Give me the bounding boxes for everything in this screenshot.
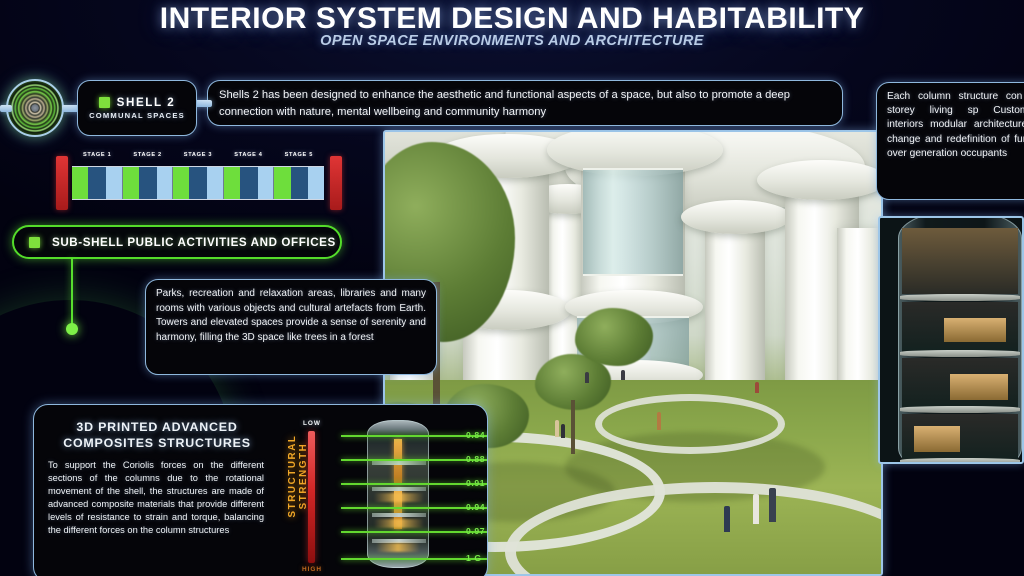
structural-strength-gauge: STRUCTURAL STRENGTH LOW HIGH <box>274 413 326 576</box>
column-cutaway-diagram <box>367 420 429 568</box>
green-square-swatch-icon <box>29 237 40 248</box>
gravity-value-label: 0.94 G <box>466 502 488 512</box>
segment-dark-blue <box>88 167 106 199</box>
inset-cutaway-image <box>878 216 1024 464</box>
stage-label: STAGE 3 <box>173 152 223 164</box>
habitat-ring-logo-icon <box>6 79 64 137</box>
stage-segment-group[interactable] <box>274 167 324 199</box>
segment-light-blue <box>157 167 173 199</box>
segment-light-blue <box>258 167 274 199</box>
stage-label: STAGE 2 <box>122 152 172 164</box>
floor-slab <box>900 350 1020 357</box>
column-description-text: Each column structure con multi-storey l… <box>887 90 1024 161</box>
stage-label: STAGE 1 <box>72 152 122 164</box>
composites-panel-body: To support the Coriolis forces on the di… <box>48 459 264 536</box>
gauge-top-label: LOW <box>290 420 334 427</box>
column-slab <box>372 513 426 517</box>
floor-slab <box>900 406 1020 413</box>
parks-description-text: Parks, recreation and relaxation areas, … <box>156 287 426 345</box>
shell-badge-title: SHELL 2 <box>117 96 176 109</box>
shell-description-text: Shells 2 has been designed to enhance th… <box>219 87 831 120</box>
gauge-axis-label: STRUCTURAL STRENGTH <box>287 416 309 536</box>
person <box>621 370 625 380</box>
stage-bar-rail <box>72 166 324 200</box>
composites-title-line2: COMPOSITES STRUCTURES <box>63 436 251 450</box>
stage-label: STAGE 4 <box>223 152 273 164</box>
stage-bar-end-cap-left <box>56 156 68 210</box>
room-lighting <box>914 426 960 452</box>
stage-segment-group[interactable] <box>224 167 275 199</box>
segment-dark-blue <box>189 167 207 199</box>
column-interior-glow <box>376 543 420 552</box>
parks-description-panel: Parks, recreation and relaxation areas, … <box>145 279 437 375</box>
sub-shell-badge-label: SUB-SHELL PUBLIC ACTIVITIES AND OFFICES <box>52 236 336 249</box>
segment-green <box>274 167 290 199</box>
shell-description-panel: Shells 2 has been designed to enhance th… <box>207 80 843 126</box>
segment-green <box>123 167 139 199</box>
column-slab <box>372 461 426 465</box>
person <box>657 412 661 430</box>
column-interior-glow <box>374 519 424 528</box>
column-capital <box>757 160 883 200</box>
gauge-bottom-label: HIGH <box>290 566 334 573</box>
column-capital <box>681 200 791 234</box>
stage-bar-end-cap-right <box>330 156 342 210</box>
tree-trunk <box>571 400 575 454</box>
column-slab <box>372 487 426 491</box>
tower-glass-band <box>583 168 683 276</box>
stage-label: STAGE 5 <box>274 152 324 164</box>
segment-green <box>72 167 88 199</box>
page-title: INTERIOR SYSTEM DESIGN AND HABITABILITY <box>0 2 1024 36</box>
stage-segment-group[interactable] <box>123 167 174 199</box>
tree <box>575 308 653 366</box>
floor-slab <box>900 294 1020 301</box>
person <box>755 382 759 393</box>
room-lighting <box>950 374 1008 400</box>
column-interior-glow <box>374 493 424 502</box>
shell-badge-row: SHELL 2 <box>99 96 176 109</box>
gravity-value-label: 0.84 G <box>466 430 488 440</box>
person <box>753 494 759 524</box>
stage-label-row: STAGE 1 STAGE 2 STAGE 3 STAGE 4 STAGE 5 <box>72 152 324 164</box>
segment-light-blue <box>207 167 223 199</box>
gravity-value-label: 0.91 G <box>466 478 488 488</box>
shell-badge-subtitle: COMMUNAL SPACES <box>89 111 185 120</box>
shell-2-badge[interactable]: SHELL 2 COMMUNAL SPACES <box>77 80 197 136</box>
sub-shell-badge[interactable]: SUB-SHELL PUBLIC ACTIVITIES AND OFFICES <box>12 225 342 259</box>
person <box>585 372 589 383</box>
connector-line <box>0 105 12 112</box>
composites-panel: 3D PRINTED ADVANCED COMPOSITES STRUCTURE… <box>33 404 488 576</box>
gravity-value-label: 0.88 G <box>466 454 488 464</box>
page-subtitle: OPEN SPACE ENVIRONMENTS AND ARCHITECTURE <box>0 33 1024 49</box>
segment-light-blue <box>106 167 122 199</box>
stage-bar: STAGE 1 STAGE 2 STAGE 3 STAGE 4 STAGE 5 <box>48 152 348 210</box>
stage-segment-group[interactable] <box>72 167 123 199</box>
segment-green <box>224 167 240 199</box>
segment-dark-blue <box>240 167 258 199</box>
gravity-value-label: 1 G <box>466 553 488 563</box>
stage-segment-group[interactable] <box>173 167 224 199</box>
gravity-value-label: 0.97 G <box>466 526 488 536</box>
floor-slab <box>900 458 1020 464</box>
column-cutaway-body <box>367 420 429 568</box>
person <box>769 488 776 522</box>
segment-light-blue <box>308 167 324 199</box>
interior-room <box>902 228 1018 294</box>
segment-green <box>173 167 189 199</box>
park-path <box>595 394 785 454</box>
column-description-panel: Each column structure con multi-storey l… <box>876 82 1024 200</box>
segment-dark-blue <box>139 167 157 199</box>
room-lighting <box>944 318 1006 342</box>
segment-dark-blue <box>291 167 309 199</box>
gauge-bar <box>308 431 315 563</box>
poster-canvas: INTERIOR SYSTEM DESIGN AND HABITABILITY … <box>0 0 1024 576</box>
composites-title-line1: 3D PRINTED ADVANCED <box>76 420 237 434</box>
green-square-swatch-icon <box>99 97 110 108</box>
composites-panel-title: 3D PRINTED ADVANCED COMPOSITES STRUCTURE… <box>48 419 266 451</box>
person <box>561 424 565 438</box>
person <box>724 506 730 532</box>
person <box>555 420 559 437</box>
